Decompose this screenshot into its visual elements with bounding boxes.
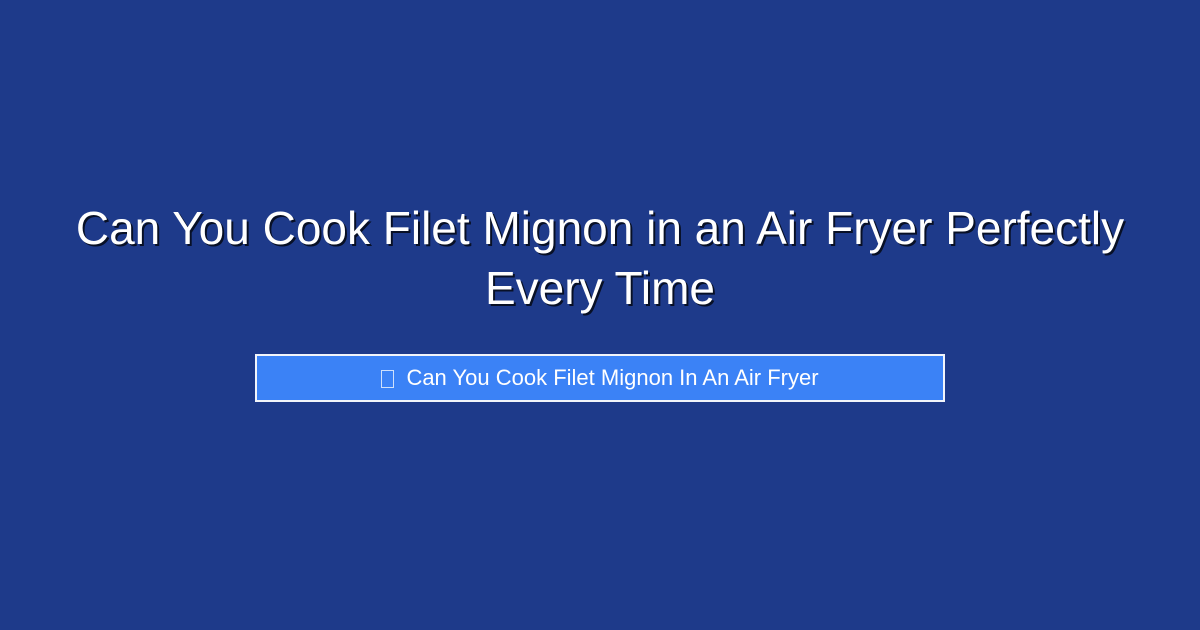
- article-banner-label: Can You Cook Filet Mignon In An Air Frye…: [406, 367, 818, 389]
- social-share-card: Can You Cook Filet Mignon in an Air Frye…: [0, 0, 1200, 630]
- article-banner-button[interactable]: Can You Cook Filet Mignon In An Air Frye…: [255, 354, 945, 402]
- missing-glyph-box-icon: [381, 370, 394, 388]
- page-title: Can You Cook Filet Mignon in an Air Frye…: [60, 198, 1140, 318]
- banner-container: Can You Cook Filet Mignon In An Air Frye…: [0, 354, 1200, 402]
- title-block: Can You Cook Filet Mignon in an Air Frye…: [0, 198, 1200, 318]
